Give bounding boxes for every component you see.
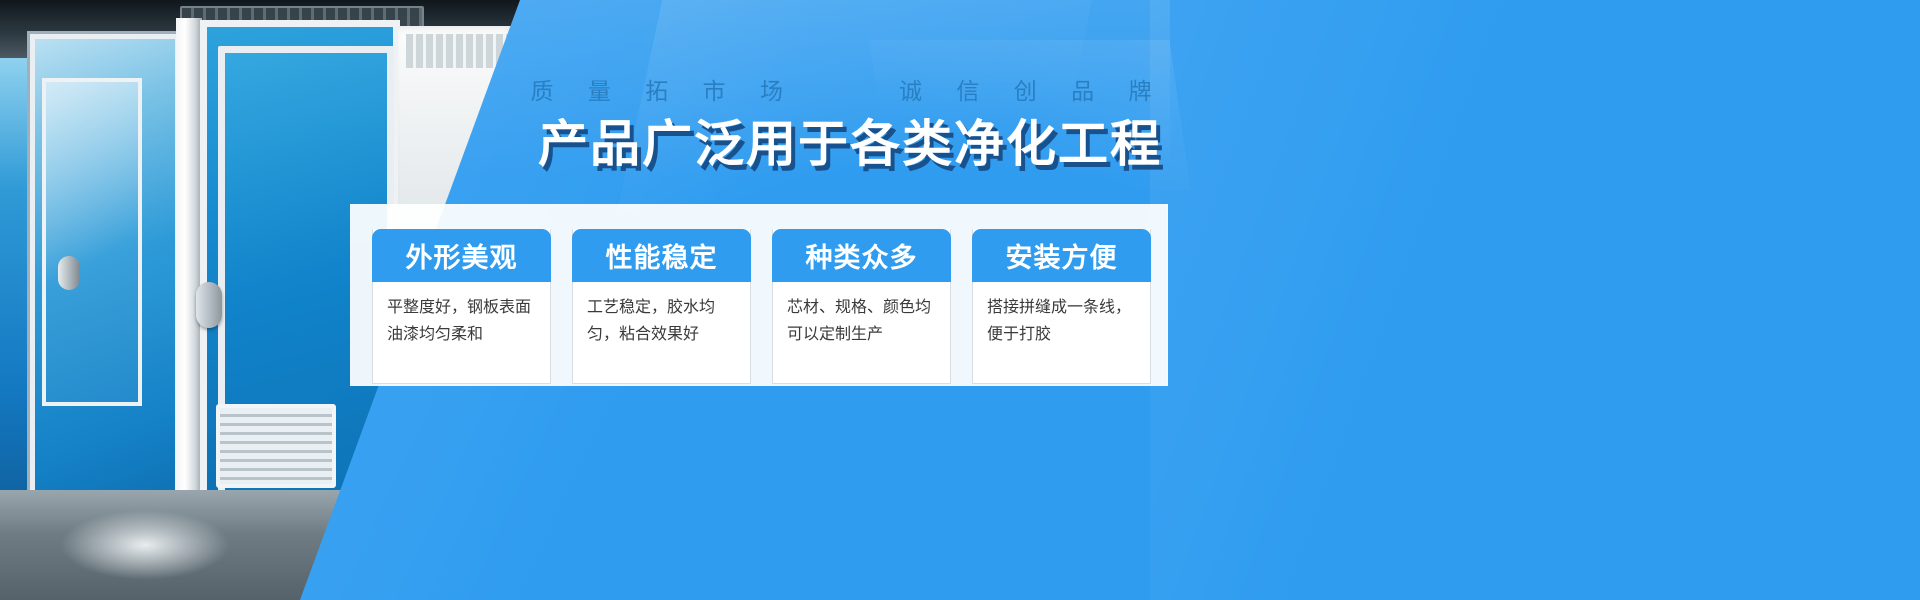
feature-card[interactable]: 外形美观 平整度好，钢板表面油漆均匀柔和: [372, 229, 551, 384]
feature-card-body: 芯材、规格、颜色均可以定制生产: [773, 282, 950, 348]
feature-card[interactable]: 性能稳定 工艺稳定，胶水均匀，粘合效果好: [572, 229, 751, 384]
overlay-ghost-shape-3: [1150, 0, 1580, 600]
feature-card[interactable]: 安装方便 搭接拼缝成一条线，便于打胶: [972, 229, 1151, 384]
feature-card-header: 外形美观: [372, 229, 551, 282]
feature-card-strip: 外形美观 平整度好，钢板表面油漆均匀柔和 性能稳定 工艺稳定，胶水均匀，粘合效果…: [350, 204, 1168, 386]
feature-card-body: 平整度好，钢板表面油漆均匀柔和: [373, 282, 550, 348]
feature-card-header: 种类众多: [772, 229, 951, 282]
feature-card-heading: 外形美观: [406, 236, 518, 275]
cabin-lock: [58, 256, 80, 290]
cabin-door-vent: [216, 404, 336, 488]
feature-card-header: 性能稳定: [572, 229, 751, 282]
feature-card-body: 工艺稳定，胶水均匀，粘合效果好: [573, 282, 750, 348]
banner-tagline: 质 量 拓 市 场 诚 信 创 品 牌: [528, 74, 1168, 108]
feature-card-list: 外形美观 平整度好，钢板表面油漆均匀柔和 性能稳定 工艺稳定，胶水均匀，粘合效果…: [372, 229, 1151, 384]
feature-card-heading: 性能稳定: [606, 236, 718, 275]
promo-banner: 质 量 拓 市 场 诚 信 创 品 牌 产品广泛用于各类净化工程 外形美观 平整…: [0, 0, 1920, 600]
feature-card-body: 搭接拼缝成一条线，便于打胶: [973, 282, 1150, 348]
feature-card-heading: 安装方便: [1006, 236, 1118, 275]
banner-title: 产品广泛用于各类净化工程: [470, 114, 1230, 174]
cabin-door-handle: [196, 282, 222, 328]
feature-card-heading: 种类众多: [806, 236, 918, 275]
feature-card-header: 安装方便: [972, 229, 1151, 282]
cabin-glass-panel: [30, 34, 180, 542]
feature-card[interactable]: 种类众多 芯材、规格、颜色均可以定制生产: [772, 229, 951, 384]
